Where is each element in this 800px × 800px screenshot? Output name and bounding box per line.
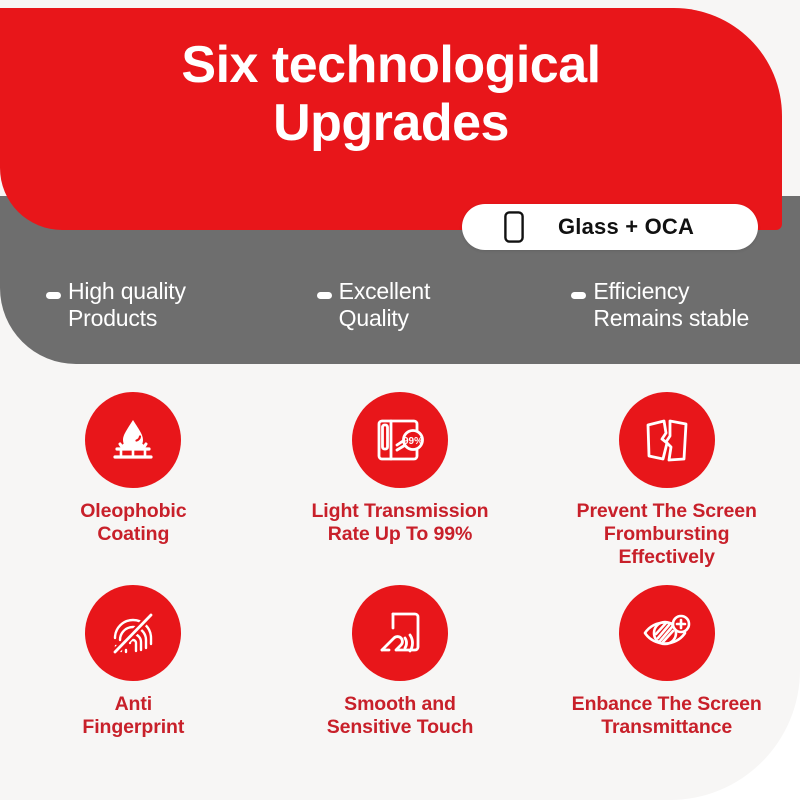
feature-icon-circle xyxy=(85,585,181,681)
feature-label-line-2: Coating xyxy=(97,523,169,545)
feature-enhance-transmittance: Enbance The Screen Transmittance xyxy=(533,585,800,739)
feature-label-line-2: Frombursting xyxy=(604,523,730,545)
feature-oleophobic-coating: Oleophobic Coating xyxy=(0,392,267,569)
feature-row-1: Oleophobic Coating xyxy=(0,392,800,569)
feature-label-line-2: Rate Up To 99% xyxy=(328,523,473,545)
transmission-percent-text: 99% xyxy=(403,436,423,447)
fingerprint-blocked-icon xyxy=(102,602,164,664)
glass-oca-badge[interactable]: Glass + OCA xyxy=(462,204,758,250)
bullet-item-excellent-quality: Excellent Quality xyxy=(275,278,546,358)
eye-plus-transmittance-icon xyxy=(636,602,698,664)
feature-icon-circle: 99% xyxy=(352,392,448,488)
screen-light-transmission-99-icon: 99% xyxy=(369,409,431,471)
feature-label-line-2: Sensitive Touch xyxy=(327,716,474,738)
bullet-item-high-quality-products: High quality Products xyxy=(0,278,275,358)
feature-icon-circle xyxy=(85,392,181,488)
feature-label-line-1: Light Transmission xyxy=(312,500,489,522)
feature-label: Anti Fingerprint xyxy=(13,693,253,739)
feature-row-2: Anti Fingerprint xyxy=(0,585,800,739)
phone-outline-icon xyxy=(504,211,524,243)
feature-label-line-3: Effectively xyxy=(618,546,714,568)
feature-prevent-screen-bursting: Prevent The Screen Frombursting Effectiv… xyxy=(533,392,800,569)
feature-icon-circle xyxy=(619,392,715,488)
feature-label-line-2: Transmittance xyxy=(601,716,732,738)
feature-label-line-1: Anti xyxy=(115,693,153,715)
bullet-text: Efficiency Remains stable xyxy=(593,278,749,331)
feature-label-line-1: Smooth and xyxy=(344,693,456,715)
feature-label-line-1: Prevent The Screen xyxy=(577,500,757,522)
bullet-line-1: Excellent xyxy=(339,278,431,304)
feature-label: Oleophobic Coating xyxy=(13,500,253,546)
feature-light-transmission: 99% Light Transmission Rate Up To 99% xyxy=(267,392,534,569)
feature-smooth-sensitive-touch: Smooth and Sensitive Touch xyxy=(267,585,534,739)
page-title: Six technological Upgrades xyxy=(0,36,782,152)
feature-label: Enbance The Screen Transmittance xyxy=(547,693,787,739)
feature-label-line-1: Oleophobic xyxy=(80,500,186,522)
bullet-line-2: Quality xyxy=(339,305,409,331)
feature-label: Smooth and Sensitive Touch xyxy=(280,693,520,739)
benefit-bullet-list: High quality Products Excellent Quality … xyxy=(0,278,800,358)
bullet-line-2: Products xyxy=(68,305,157,331)
feature-label-line-2: Fingerprint xyxy=(82,716,184,738)
feature-label: Light Transmission Rate Up To 99% xyxy=(280,500,520,546)
dash-bullet-icon xyxy=(317,292,332,299)
infographic-poster: Six technological Upgrades Glass + OCA H… xyxy=(0,0,800,800)
dash-bullet-icon xyxy=(571,292,586,299)
bullet-line-1: Efficiency xyxy=(593,278,689,304)
glass-oca-badge-label: Glass + OCA xyxy=(558,214,694,240)
bullet-line-2: Remains stable xyxy=(593,305,749,331)
feature-grid: Oleophobic Coating xyxy=(0,392,800,739)
finger-touch-screen-icon xyxy=(369,602,431,664)
bullet-text: Excellent Quality xyxy=(339,278,431,331)
water-droplet-repel-icon xyxy=(102,409,164,471)
feature-icon-circle xyxy=(619,585,715,681)
feature-icon-circle xyxy=(352,585,448,681)
page-title-line-1: Six technological xyxy=(181,36,600,94)
bullet-text: High quality Products xyxy=(68,278,186,331)
feature-label: Prevent The Screen Frombursting Effectiv… xyxy=(547,500,787,569)
cracked-screen-icon xyxy=(636,409,698,471)
feature-label-line-1: Enbance The Screen xyxy=(572,693,762,715)
dash-bullet-icon xyxy=(46,292,61,299)
bullet-line-1: High quality xyxy=(68,278,186,304)
bullet-item-efficiency-remains-stable: Efficiency Remains stable xyxy=(545,278,800,358)
page-title-line-2: Upgrades xyxy=(0,94,782,152)
feature-anti-fingerprint: Anti Fingerprint xyxy=(0,585,267,739)
